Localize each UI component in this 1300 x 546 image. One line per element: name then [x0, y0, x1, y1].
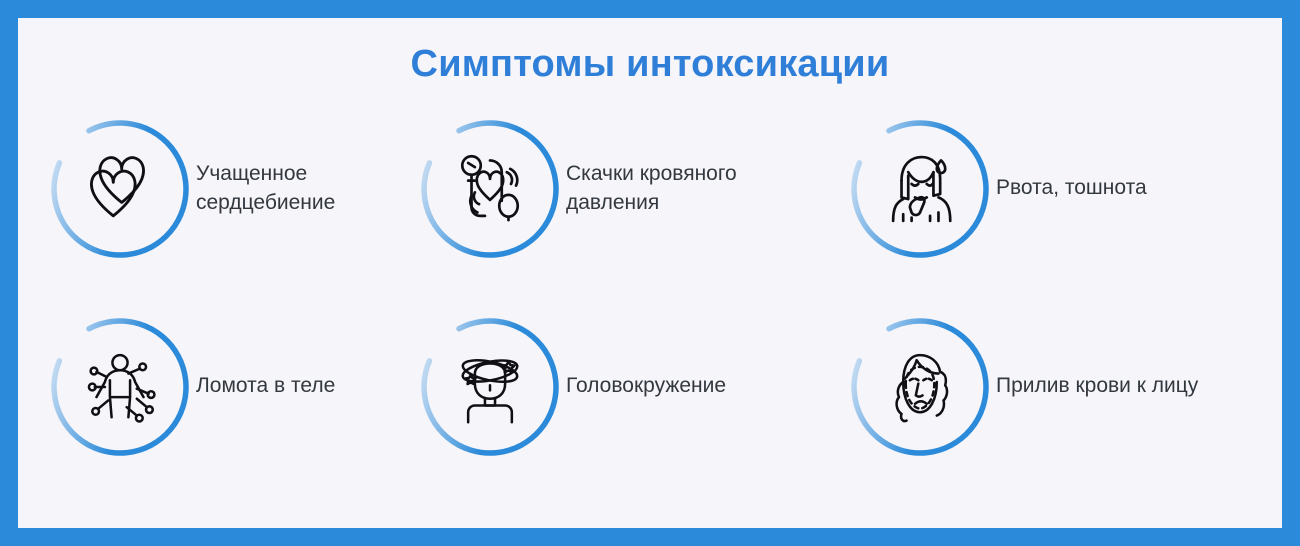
symptom-item-vomiting-nausea: Рвота, тошнота: [850, 90, 1250, 288]
body-pain-points-icon: [78, 345, 162, 429]
nausea-person-icon: [878, 147, 962, 231]
symptom-badge: [50, 119, 190, 259]
symptom-item-tachycardia: Учащенное сердцебиение: [50, 90, 420, 288]
symptom-label: Головокружение: [566, 372, 726, 401]
symptom-badge: [50, 317, 190, 457]
symptom-label: Учащенное сердцебиение: [196, 160, 386, 218]
infographic-panel: Симптомы интоксикации: [18, 18, 1282, 528]
flushed-face-icon: [878, 345, 962, 429]
intoxication-symptoms-infographic: Симптомы интоксикации: [0, 0, 1300, 546]
symptom-badge: [850, 317, 990, 457]
double-heart-icon: [78, 147, 162, 231]
symptom-badge: [420, 119, 560, 259]
symptom-badge: [420, 317, 560, 457]
symptom-item-blood-pressure: Скачки кровяного давления: [420, 90, 850, 288]
dizzy-head-icon: [448, 345, 532, 429]
page-title: Симптомы интоксикации: [18, 44, 1282, 86]
symptom-label: Рвота, тошнота: [996, 174, 1147, 203]
symptoms-grid: Учащенное сердцебиение: [18, 86, 1282, 528]
symptom-item-facial-flushing: Прилив крови к лицу: [850, 288, 1250, 486]
symptom-label: Прилив крови к лицу: [996, 372, 1198, 401]
symptom-label: Скачки кровяного давления: [566, 160, 796, 218]
blood-pressure-monitor-icon: [448, 147, 532, 231]
symptom-badge: [850, 119, 990, 259]
symptom-item-body-aches: Ломота в теле: [50, 288, 420, 486]
symptom-label: Ломота в теле: [196, 372, 335, 401]
symptom-item-dizziness: Головокружение: [420, 288, 850, 486]
